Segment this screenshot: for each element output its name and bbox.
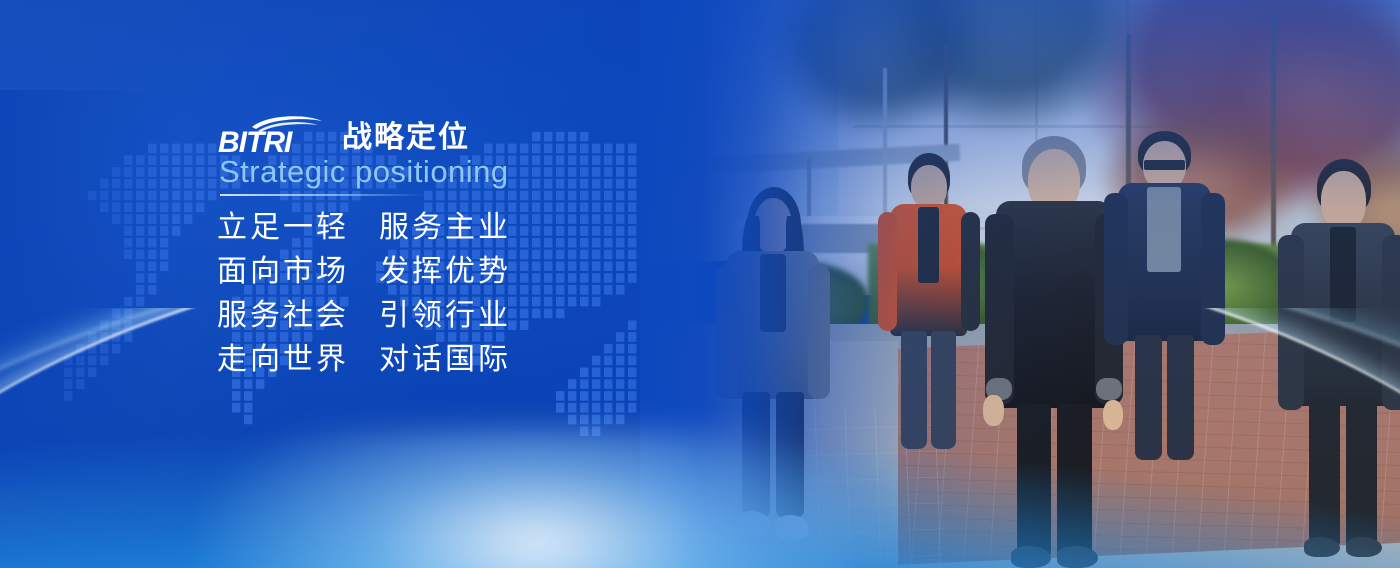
slogan-left: 走向世界 bbox=[217, 338, 349, 382]
bitri-logo: BITRI bbox=[218, 112, 328, 156]
slogan-row: 服务社会 引领行业 bbox=[217, 294, 511, 338]
banner-content: BITRI 战略定位 Strategic positioning 立足一轻 服务… bbox=[0, 0, 620, 568]
title-divider bbox=[220, 194, 425, 196]
bitri-wordmark: BITRI bbox=[218, 126, 293, 156]
brand-lockup: BITRI 战略定位 bbox=[218, 112, 470, 156]
strategic-positioning-banner: BITRI 战略定位 Strategic positioning 立足一轻 服务… bbox=[0, 0, 1400, 568]
slogan-right: 发挥优势 bbox=[379, 250, 511, 294]
slogan-row: 面向市场 发挥优势 bbox=[217, 250, 511, 294]
slogan-left: 服务社会 bbox=[217, 294, 349, 338]
slogan-right: 服务主业 bbox=[379, 206, 511, 250]
slogan-row: 走向世界 对话国际 bbox=[217, 338, 511, 382]
slogan-left: 面向市场 bbox=[217, 250, 349, 294]
slogan-list: 立足一轻 服务主业 面向市场 发挥优势 服务社会 引领行业 走向世界 对话国际 bbox=[217, 206, 511, 382]
slogan-left: 立足一轻 bbox=[217, 206, 349, 250]
banner-title-zh: 战略定位 bbox=[342, 123, 470, 156]
slogan-right: 引领行业 bbox=[379, 294, 511, 338]
slogan-row: 立足一轻 服务主业 bbox=[217, 206, 511, 250]
banner-subtitle-en: Strategic positioning bbox=[219, 155, 509, 189]
slogan-right: 对话国际 bbox=[379, 338, 511, 382]
